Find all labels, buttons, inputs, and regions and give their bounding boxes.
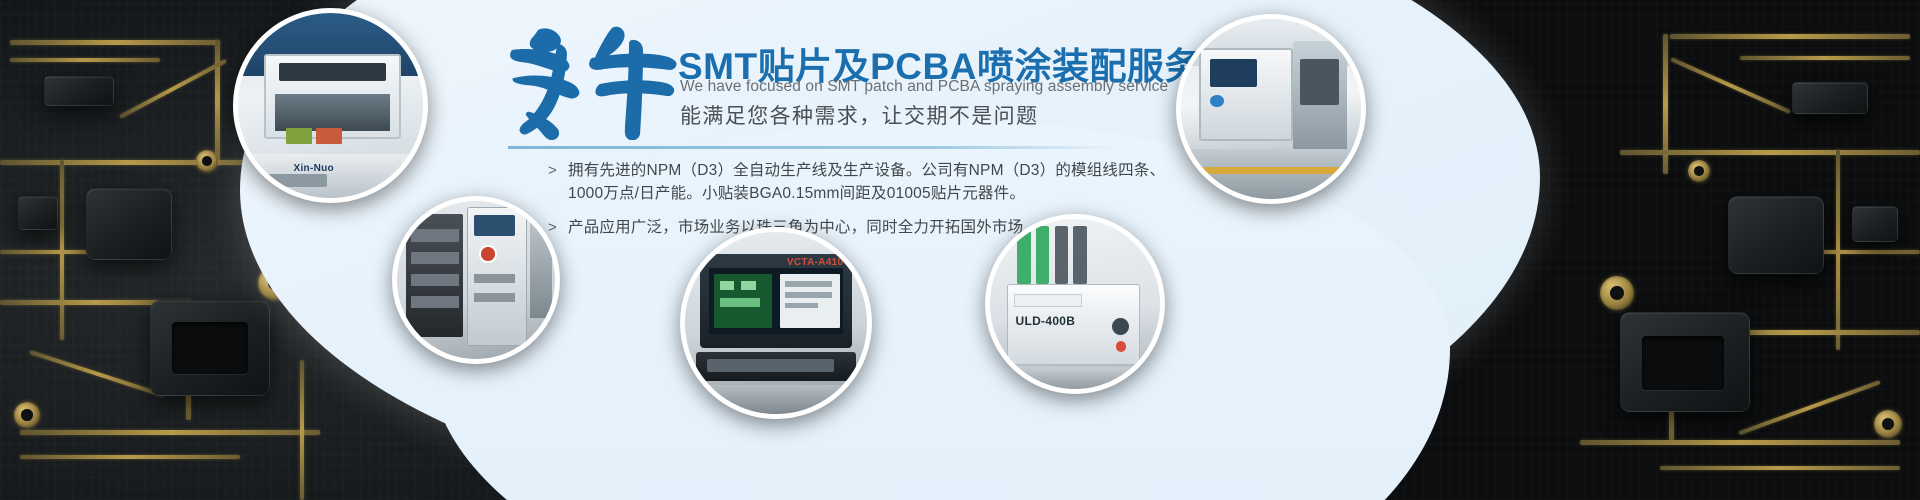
photo-smt-printer[interactable]: Xin-Nuo <box>233 8 428 203</box>
photo-aoi-inspection[interactable]: VCTA-A410 <box>680 227 872 419</box>
bullet-marker-icon: > <box>548 160 568 182</box>
photo-smt-line[interactable] <box>1176 14 1366 204</box>
list-item-line: 拥有先进的NPM（D3）全自动生产线及生产设备。公司有NPM（D3）的模组线四条… <box>568 160 1165 183</box>
photo-caption: Xin-Nuo <box>294 163 334 174</box>
brush-word-duonian <box>500 22 690 140</box>
divider <box>508 146 1118 149</box>
list-item-line: 1000万点/日产能。小贴装BGA0.15mm间距及01005贴片元器件。 <box>568 183 1165 206</box>
tagline: 能满足您各种需求，让交期不是问题 <box>680 100 1038 130</box>
photo-caption: VCTA-A410 <box>787 257 843 268</box>
list-item: > 拥有先进的NPM（D3）全自动生产线及生产设备。公司有NPM（D3）的模组线… <box>548 160 1208 205</box>
photo-uld-loader[interactable]: ULD-400B <box>985 214 1165 394</box>
smt-service-banner: SMT贴片及PCBA喷涂装配服务 We have focused on SMT … <box>0 0 1920 500</box>
photo-pick-and-place[interactable] <box>392 196 560 364</box>
photo-caption: ULD-400B <box>1016 314 1076 328</box>
subtitle-english: We have focused on SMT patch and PCBA sp… <box>680 78 1168 96</box>
